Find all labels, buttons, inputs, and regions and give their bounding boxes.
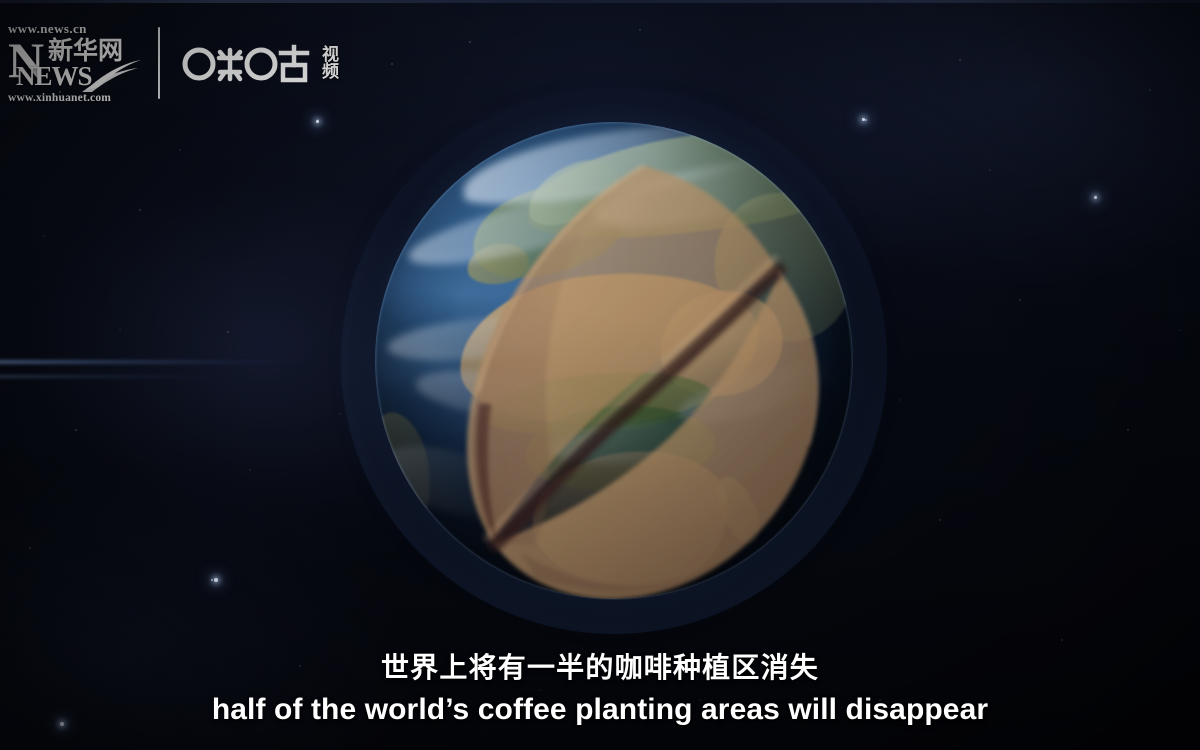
- xinhua-url-bottom: www.xinhuanet.com: [8, 92, 140, 104]
- bright-star: [316, 120, 319, 123]
- migu-sub-char-2: 频: [322, 63, 339, 80]
- bright-star: [60, 722, 64, 726]
- bright-star: [862, 118, 865, 121]
- watermark-logos: www.news.cn N 新华网 NEWS www.xinhuanet.com: [8, 22, 339, 104]
- xinhua-mark: N 新华网 NEWS: [8, 37, 140, 91]
- xinhua-logo[interactable]: www.news.cn N 新华网 NEWS www.xinhuanet.com: [8, 22, 140, 104]
- top-light-strip: [0, 0, 1200, 3]
- vertical-divider: [158, 27, 160, 99]
- earth-globe: [375, 122, 853, 600]
- migu-sub-wordmark: 视 频: [322, 46, 339, 80]
- bright-star: [1094, 196, 1097, 199]
- subtitle-chinese: 世界上将有一半的咖啡种植区消失: [0, 650, 1200, 685]
- migu-wordmark-icon: [182, 41, 314, 85]
- subtitle-english: half of the world’s coffee planting area…: [0, 691, 1200, 729]
- swoosh-icon: [80, 59, 142, 93]
- lens-streak: [0, 360, 310, 364]
- subtitle-block: 世界上将有一半的咖啡种植区消失 half of the world’s coff…: [0, 650, 1200, 729]
- globe-sphere: [375, 122, 853, 600]
- lens-streak: [0, 375, 240, 378]
- globe-rim-light: [375, 122, 853, 600]
- migu-sub-char-1: 视: [322, 46, 339, 63]
- migu-logo[interactable]: 视 频: [182, 41, 339, 85]
- video-frame: www.news.cn N 新华网 NEWS www.xinhuanet.com: [0, 0, 1200, 750]
- bright-star: [214, 578, 218, 582]
